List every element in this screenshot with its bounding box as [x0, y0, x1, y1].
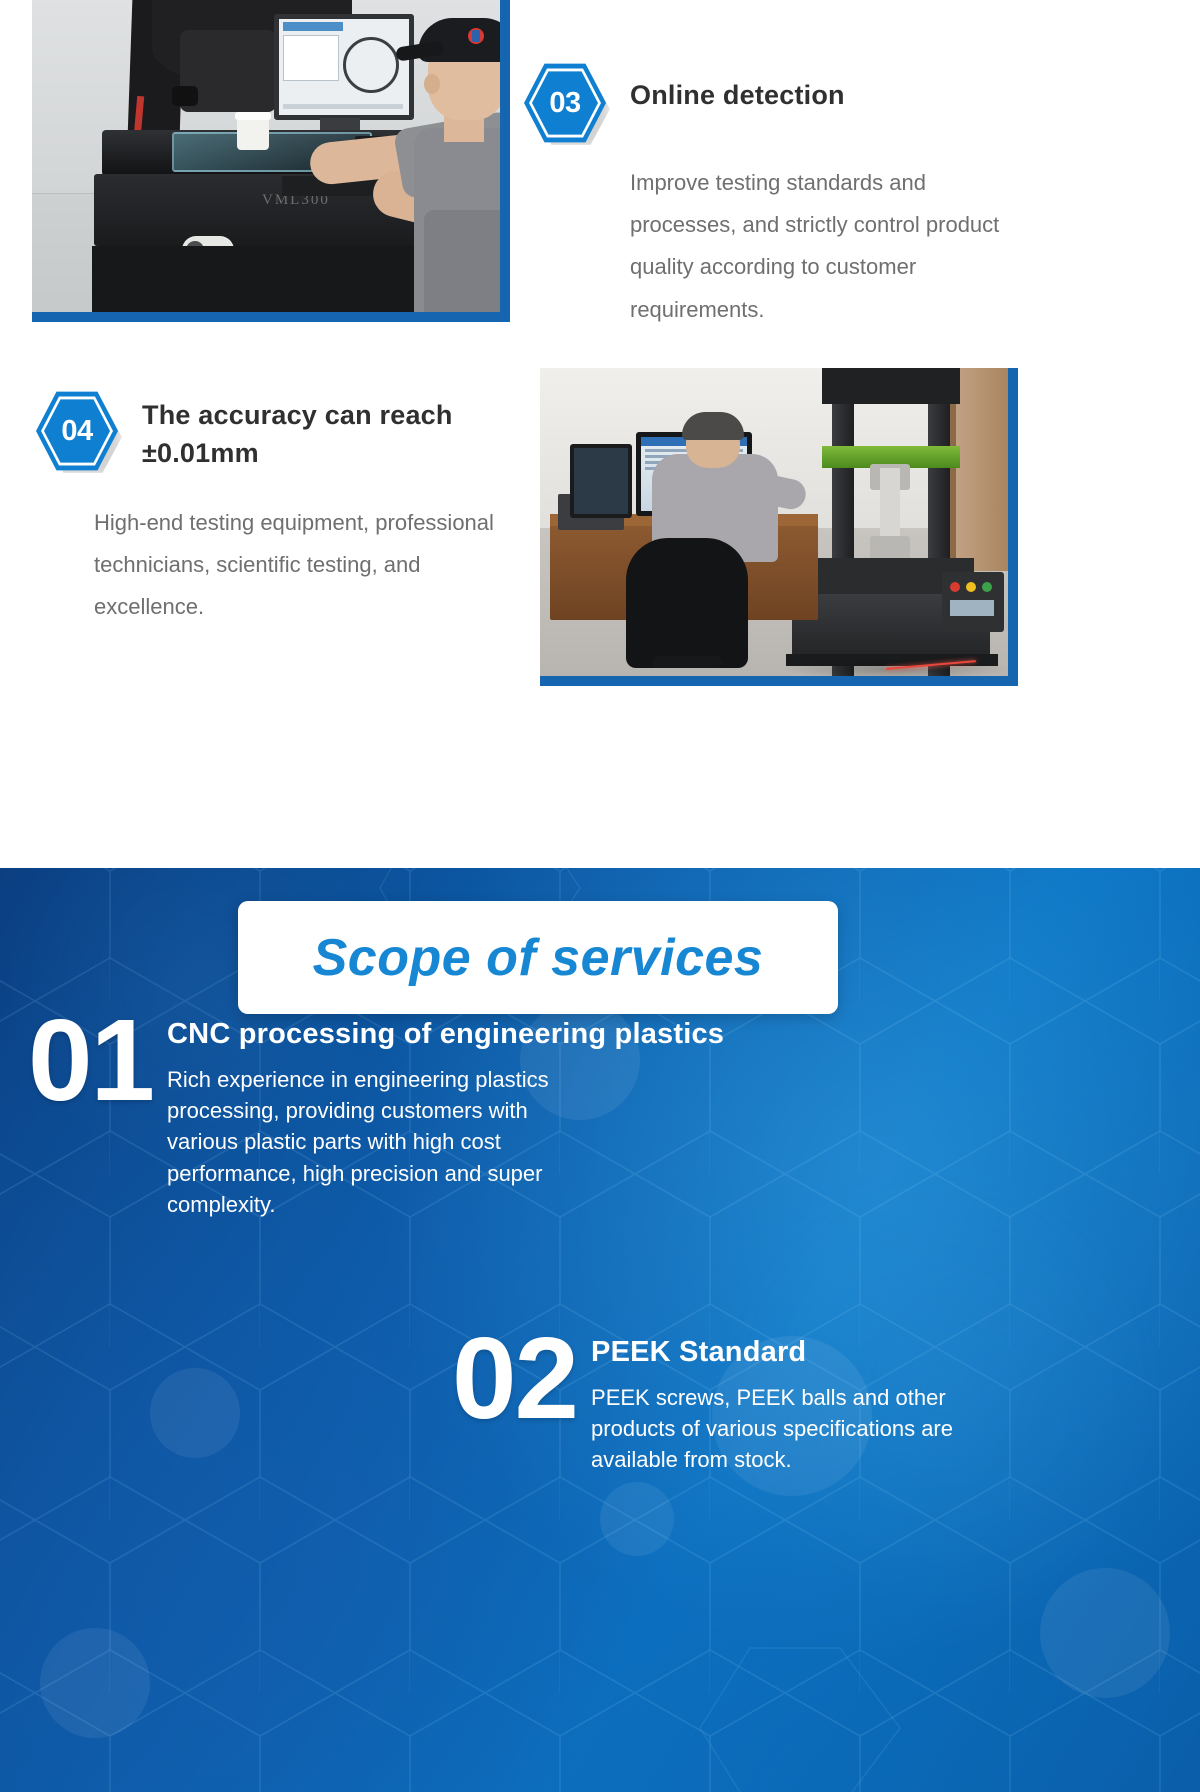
feature-04-head: 04 The accuracy can reach ±0.01mm	[36, 390, 516, 474]
tensile-test-scene	[540, 368, 1008, 676]
hexagon-badge-03: 03	[524, 62, 608, 146]
monitor-toolbar	[283, 22, 343, 31]
control-panel	[942, 572, 1004, 632]
scope-item-01-number: 01	[28, 1007, 153, 1114]
page-root: VML300	[0, 0, 1200, 1792]
control-button-green	[982, 582, 992, 592]
scope-title: Scope of services	[313, 928, 764, 988]
measurement-monitor	[274, 14, 414, 120]
feature-03-head: 03 Online detection	[524, 62, 1044, 146]
operator-lower-torso	[424, 210, 500, 312]
control-button-red	[950, 582, 960, 592]
scope-item-01-heading: CNC processing of engineering plastics	[167, 1017, 724, 1052]
test-machine-crossbar	[822, 368, 960, 404]
photo-testing-lab	[540, 368, 1018, 686]
lower-cabinet	[92, 246, 452, 312]
photo-online-detection-image: VML300	[32, 0, 500, 312]
scope-item-01: 01 CNC processing of engineering plastic…	[28, 1007, 648, 1220]
feature-03-number: 03	[524, 62, 606, 144]
scope-item-02-body: PEEK screws, PEEK balls and other produc…	[591, 1382, 991, 1476]
feature-accuracy: 04 The accuracy can reach ±0.01mm High-e…	[36, 390, 516, 629]
feature-04-title: The accuracy can reach ±0.01mm	[142, 390, 516, 473]
bokeh-circle	[40, 1628, 150, 1738]
operator-cap	[418, 18, 500, 62]
feature-03-title: Online detection	[630, 62, 845, 114]
monitor-circle-graphic	[343, 37, 399, 93]
feature-04-body: High-end testing equipment, professional…	[94, 502, 514, 629]
monitor-grid-panel	[283, 35, 339, 81]
scope-item-02-number: 02	[452, 1325, 577, 1432]
cap-logo-icon	[468, 28, 484, 44]
feature-03-body: Improve testing standards and processes,…	[630, 162, 1030, 331]
technician-hair	[682, 412, 744, 440]
features-section: VML300	[0, 0, 1200, 868]
scope-item-02-heading: PEEK Standard	[591, 1335, 991, 1370]
photo-online-detection: VML300	[32, 0, 510, 322]
feature-online-detection: 03 Online detection Improve testing stan…	[524, 62, 1044, 331]
operator-ear	[424, 74, 440, 94]
feature-04-number: 04	[36, 390, 118, 472]
scope-title-card: Scope of services	[238, 901, 838, 1014]
bokeh-circle	[150, 1368, 240, 1458]
secondary-monitor	[570, 444, 632, 518]
bokeh-circle	[600, 1482, 674, 1556]
scope-item-02: 02 PEEK Standard PEEK screws, PEEK balls…	[452, 1325, 991, 1476]
office-chair	[626, 538, 748, 668]
scope-item-01-text: CNC processing of engineering plastics R…	[167, 1007, 724, 1220]
optical-measuring-scene: VML300	[32, 0, 500, 312]
scope-item-01-body: Rich experience in engineering plastics …	[167, 1064, 567, 1220]
monitor-status-bar	[283, 104, 403, 109]
scope-of-services-section: Scope of services 01 CNC processing of e…	[0, 868, 1200, 1792]
secondary-monitor-screen	[574, 448, 628, 514]
bokeh-circle	[1040, 1568, 1170, 1698]
white-sample-cup-lid	[235, 112, 271, 120]
control-panel-display	[950, 600, 994, 616]
white-sample-cup	[237, 116, 269, 150]
office-chair-base	[652, 656, 722, 668]
machine-knob	[172, 86, 198, 106]
control-button-yellow	[966, 582, 976, 592]
photo-testing-lab-image	[540, 368, 1008, 676]
hexagon-badge-04: 04	[36, 390, 120, 474]
scope-item-02-text: PEEK Standard PEEK screws, PEEK balls an…	[591, 1325, 991, 1476]
